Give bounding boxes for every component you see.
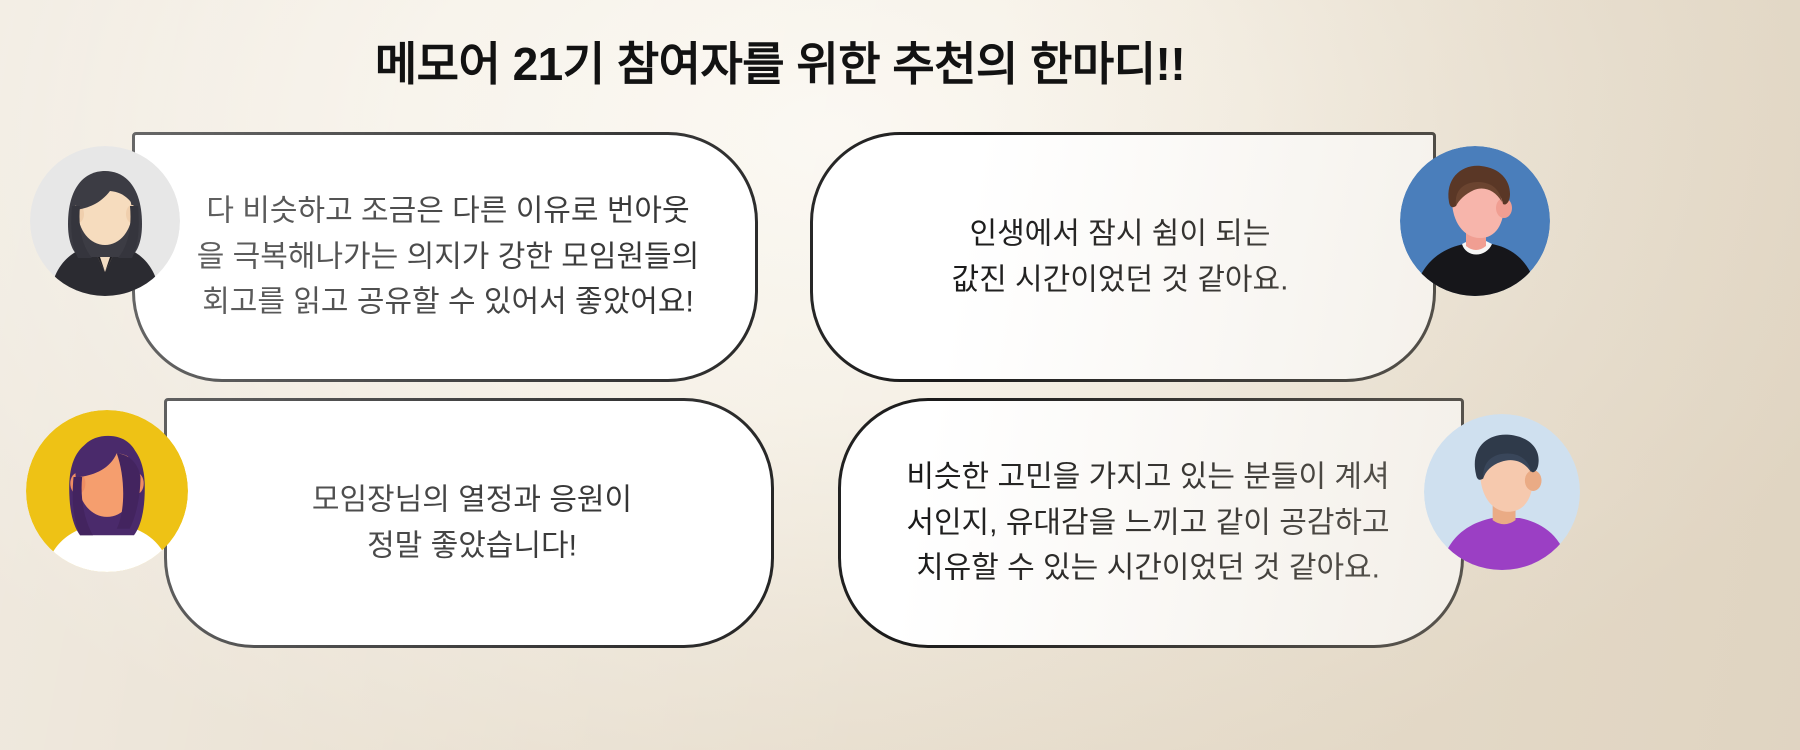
speech-bubble-1: 다 비슷하고 조금은 다른 이유로 번아웃 을 극복해나가는 의지가 강한 모임… [132,132,758,382]
testimonial-card-3: 모임장님의 열정과 응원이 정말 좋았습니다! [18,398,758,648]
speech-bubble-3: 모임장님의 열정과 응원이 정말 좋았습니다! [164,398,774,648]
testimonial-card-2: 인생에서 잠시 쉼이 되는 값진 시간이었던 것 같아요. [810,132,1550,382]
avatar-man-purple-shirt [1424,414,1580,570]
testimonial-quote-4: 비슷한 고민을 가지고 있는 분들이 계셔 서인지, 유대감을 느끼고 같이 공… [841,455,1461,592]
avatar-woman-dark-bob [30,146,180,296]
testimonial-quote-3: 모임장님의 열정과 응원이 정말 좋았습니다! [167,477,771,568]
speech-bubble-4: 비슷한 고민을 가지고 있는 분들이 계셔 서인지, 유대감을 느끼고 같이 공… [838,398,1464,648]
testimonial-card-1: 다 비슷하고 조금은 다른 이유로 번아웃 을 극복해나가는 의지가 강한 모임… [18,132,758,382]
testimonial-banner: 메모어 21기 참여자를 위한 추천의 한마디!! 다 비슷하고 조금은 다른 … [0,0,1800,750]
avatar-man-brown-hair [1400,146,1550,296]
speech-bubble-2: 인생에서 잠시 쉼이 되는 값진 시간이었던 것 같아요. [810,132,1436,382]
avatar-woman-purple-hair [26,410,188,572]
testimonial-quote-2: 인생에서 잠시 쉼이 되는 값진 시간이었던 것 같아요. [813,211,1433,302]
testimonial-quote-1: 다 비슷하고 조금은 다른 이유로 번아웃 을 극복해나가는 의지가 강한 모임… [135,189,755,326]
page-title: 메모어 21기 참여자를 위한 추천의 한마디!! [0,28,1560,94]
testimonial-card-4: 비슷한 고민을 가지고 있는 분들이 계셔 서인지, 유대감을 느끼고 같이 공… [838,398,1578,648]
